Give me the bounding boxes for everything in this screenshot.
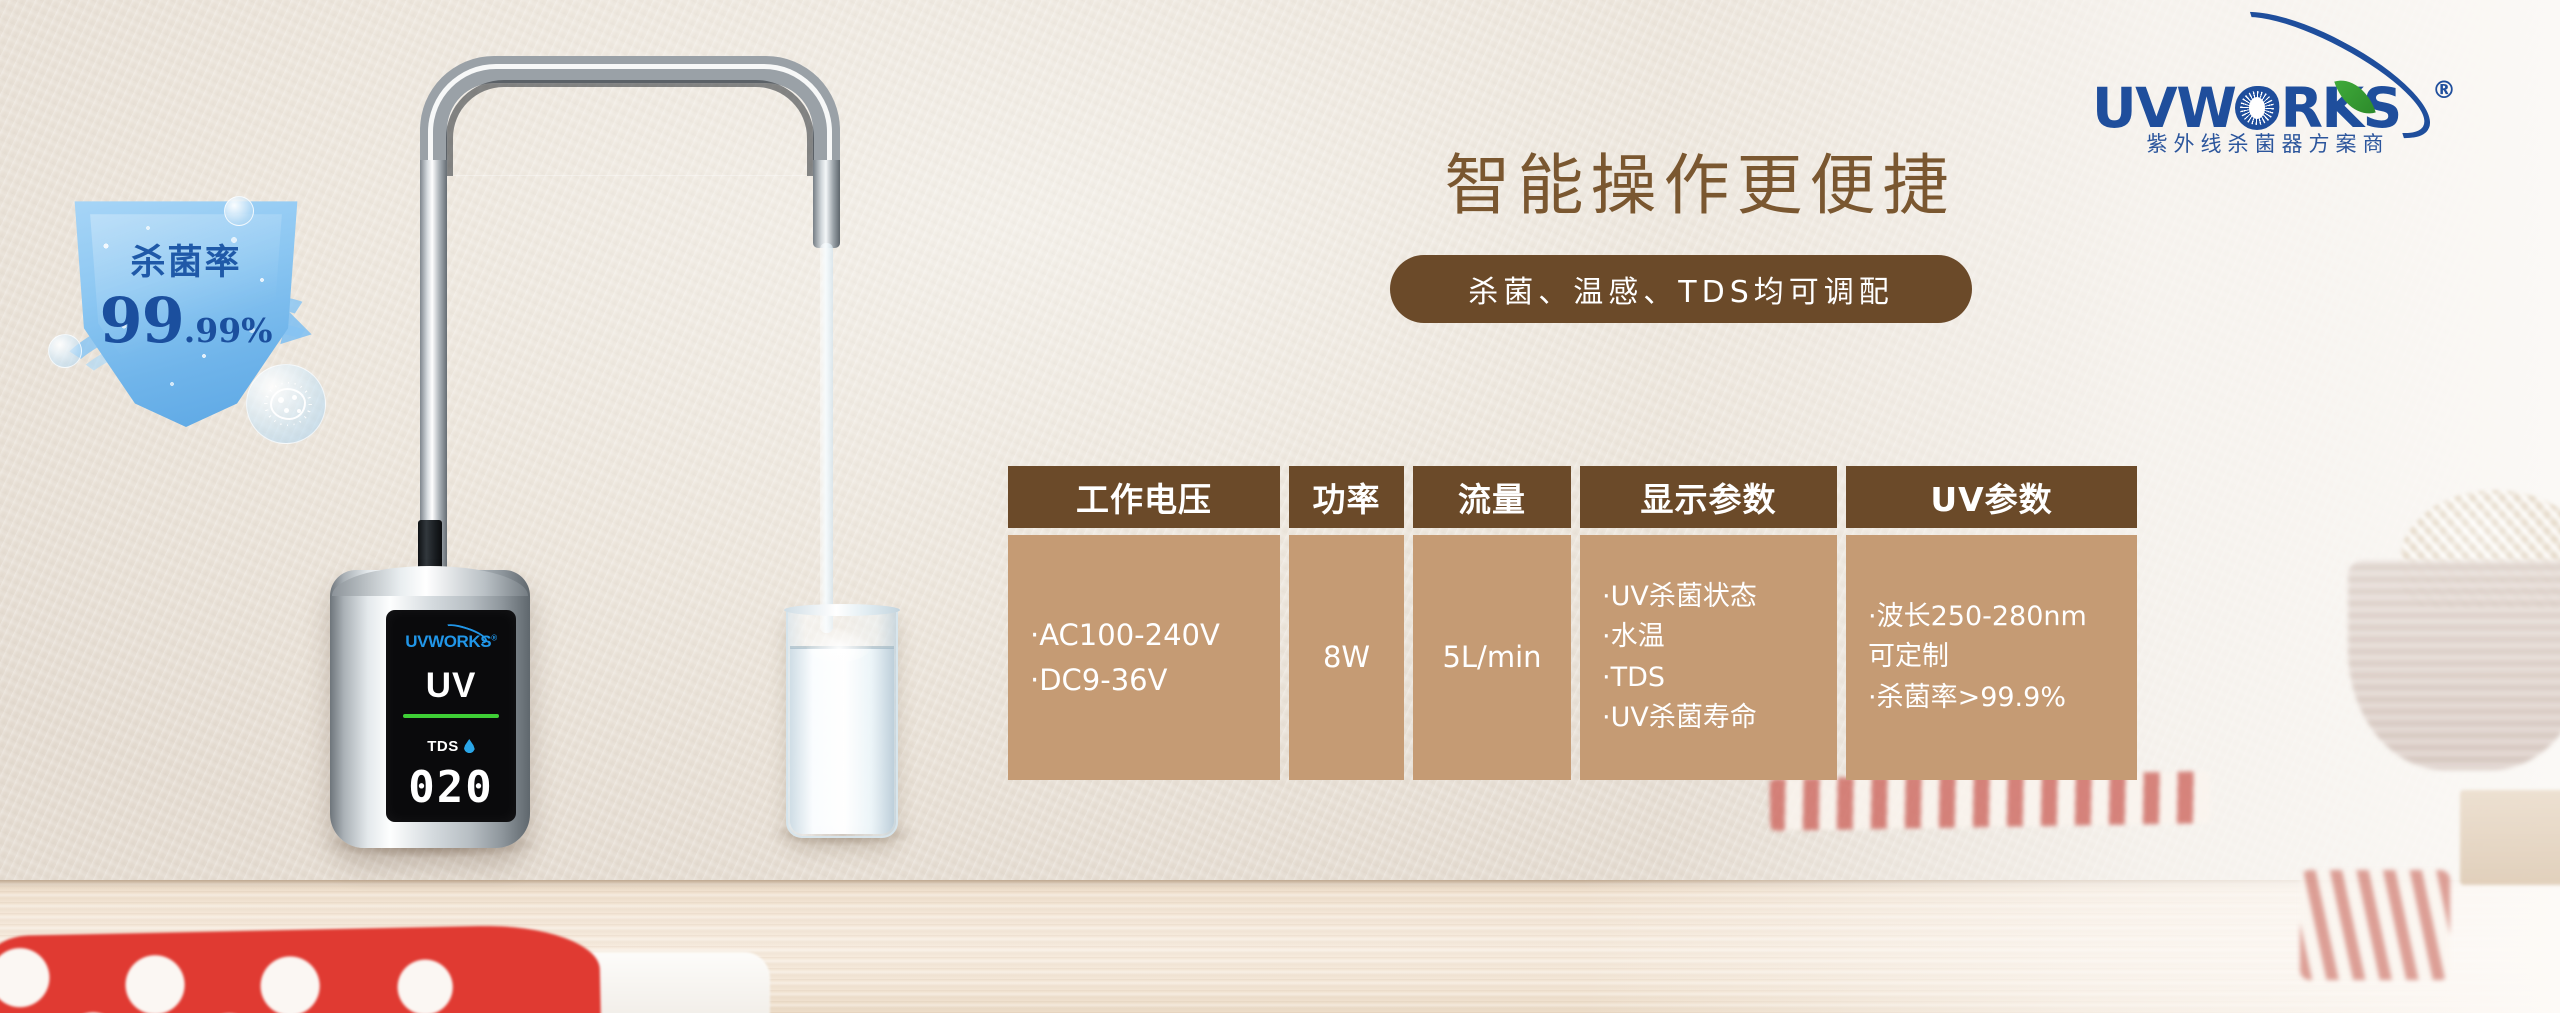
spec-body-flow: 5L/min	[1413, 535, 1571, 780]
device-tds-row: TDS	[386, 738, 516, 755]
device-mode-label: UV	[386, 666, 516, 706]
spec-header-display: 显示参数	[1580, 466, 1837, 528]
device-brand-text: UVWORKS	[405, 632, 491, 651]
bubble-icon-top	[224, 196, 254, 226]
spec-line: 可定制	[1868, 637, 2115, 678]
badge-value: 99.99%	[70, 284, 302, 357]
striped-cloth-secondary	[2300, 870, 2450, 980]
badge-value-minor: .99%	[184, 311, 273, 350]
sunburst-icon	[2235, 86, 2279, 130]
water-droplet-icon	[464, 739, 475, 753]
logo-registered-mark: ®	[2432, 76, 2456, 104]
spec-line: ·波长250-280nm	[1868, 597, 2115, 638]
spec-line: ·水温	[1602, 617, 1815, 658]
device-registered-mark: ®	[491, 633, 497, 642]
device-screen[interactable]: UVWORKS® UV TDS 020	[386, 610, 516, 822]
spec-body-uv: ·波长250-280nm 可定制 ·杀菌率>99.9%	[1846, 535, 2137, 780]
spec-body-voltage: ·AC100-240V ·DC9-36V	[1008, 535, 1280, 780]
device-brand-label: UVWORKS®	[386, 632, 516, 652]
sterilization-rate-badge: 杀菌率 99.99%	[48, 192, 338, 442]
spec-header-voltage: 工作电压	[1008, 466, 1280, 528]
spec-body-power: 8W	[1289, 535, 1404, 780]
spec-column-display: 显示参数 ·UV杀菌状态 ·水温 ·TDS ·UV杀菌寿命	[1580, 466, 1837, 780]
bubble-icon-left	[48, 334, 82, 368]
spec-column-voltage: 工作电压 ·AC100-240V ·DC9-36V	[1008, 466, 1280, 780]
subtitle-text: 杀菌、温感、TDS均可调配	[1468, 267, 1893, 311]
spec-line: ·UV杀菌寿命	[1602, 698, 1815, 739]
basket-rings	[2348, 560, 2560, 770]
water-splash	[806, 628, 872, 662]
striped-cloth	[1770, 771, 2211, 831]
faucet-stem	[420, 160, 447, 580]
spec-header-uv: UV参数	[1846, 466, 2137, 528]
device-tds-label: TDS	[427, 738, 459, 755]
spec-column-power: 功率 8W	[1289, 466, 1404, 780]
spec-column-uv: UV参数 ·波长250-280nm 可定制 ·杀菌率>99.9%	[1846, 466, 2137, 780]
device-tds-value: 020	[386, 762, 516, 813]
glass-rim	[784, 604, 900, 616]
water-stream	[820, 243, 833, 633]
spec-header-power: 功率	[1289, 466, 1404, 528]
logo-tagline: 紫外线杀菌器方案商	[2092, 128, 2444, 158]
polka-dot-cloth	[0, 924, 601, 1013]
spec-column-flow: 流量 5L/min	[1413, 466, 1571, 780]
germ-icon	[270, 388, 306, 420]
woven-basket	[2348, 560, 2560, 770]
spec-header-flow: 流量	[1413, 466, 1571, 528]
brand-logo: UVWORKS ® 紫外线杀菌器方案商	[2092, 36, 2482, 151]
wood-block	[2460, 790, 2560, 885]
spec-line: 8W	[1323, 635, 1370, 680]
badge-label: 杀菌率	[70, 234, 302, 285]
device-status-bar	[403, 714, 499, 718]
spec-line: ·DC9-36V	[1030, 658, 1258, 703]
spec-body-display: ·UV杀菌状态 ·水温 ·TDS ·UV杀菌寿命	[1580, 535, 1837, 780]
polka-dots	[0, 924, 601, 1013]
faucet-spout	[813, 160, 840, 248]
subtitle-pill: 杀菌、温感、TDS均可调配	[1390, 255, 1972, 323]
product-banner: UVWORKS® UV TDS 020 杀菌率 99.99% 智能操作更便捷 杀…	[0, 0, 2560, 1013]
spec-line: 5L/min	[1442, 635, 1541, 680]
page-title: 智能操作更便捷	[1380, 132, 2020, 228]
spec-line: ·AC100-240V	[1030, 613, 1258, 658]
faucet-shadow-line	[446, 80, 814, 176]
spec-line: ·TDS	[1602, 658, 1815, 699]
spec-line: ·杀菌率>99.9%	[1868, 678, 2115, 719]
glass-water-fill	[790, 648, 894, 834]
spec-line: ·UV杀菌状态	[1602, 577, 1815, 618]
spec-table: 工作电压 ·AC100-240V ·DC9-36V 功率 8W 流量 5L/mi…	[1008, 466, 2137, 780]
badge-value-major: 99	[99, 284, 183, 357]
